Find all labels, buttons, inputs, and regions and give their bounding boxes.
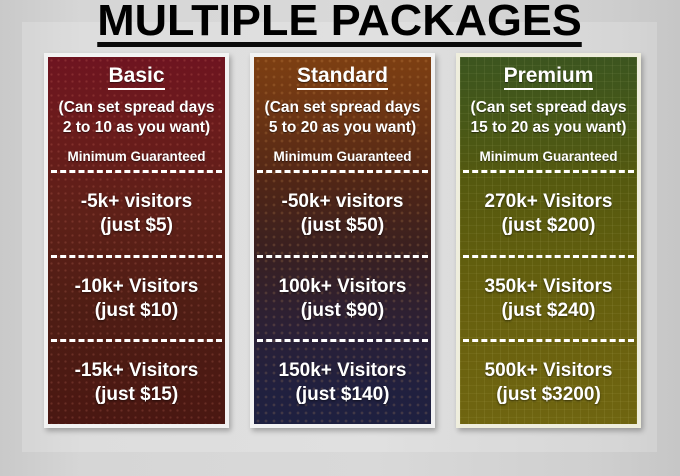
spread-days-line-1: (Can set spread days (256, 98, 429, 118)
tier-price: (just $90) (301, 299, 384, 323)
tier-price: (just $10) (95, 299, 178, 323)
tier-item[interactable]: -15k+ Visitors (just $15) (48, 342, 225, 424)
tier-price: (just $140) (296, 383, 390, 407)
spread-days-line-2: 2 to 10 as you want) (50, 118, 223, 138)
tier-price: (just $240) (502, 299, 596, 323)
tier-price: (just $3200) (496, 383, 601, 407)
card-body-basic: Basic (Can set spread days 2 to 10 as yo… (48, 57, 225, 424)
packages-row: Basic (Can set spread days 2 to 10 as yo… (0, 53, 680, 429)
tier-visitors: -5k+ visitors (81, 190, 192, 214)
package-card-basic[interactable]: Basic (Can set spread days 2 to 10 as yo… (44, 53, 229, 428)
tier-list-standard: -50k+ visitors (just $50) 100k+ Visitors… (254, 173, 431, 424)
tier-visitors: -50k+ visitors (282, 190, 404, 214)
package-name-premium: Premium (504, 63, 594, 90)
poster-stage: MULTIPLE PACKAGES Basic (Can set spread … (0, 0, 680, 476)
spread-days-standard: (Can set spread days 5 to 20 as you want… (254, 98, 431, 138)
tier-item[interactable]: 350k+ Visitors (just $240) (460, 258, 637, 340)
card-body-standard: Standard (Can set spread days 5 to 20 as… (254, 57, 431, 424)
package-name-standard: Standard (297, 63, 388, 90)
tier-visitors: 500k+ Visitors (485, 359, 613, 383)
package-card-standard[interactable]: Standard (Can set spread days 5 to 20 as… (250, 53, 435, 428)
tier-visitors: 350k+ Visitors (485, 275, 613, 299)
card-header-premium: Premium (460, 57, 637, 90)
tier-item[interactable]: 270k+ Visitors (just $200) (460, 173, 637, 255)
card-body-premium: Premium (Can set spread days 15 to 20 as… (460, 57, 637, 424)
spread-days-premium: (Can set spread days 15 to 20 as you wan… (460, 98, 637, 138)
tier-item[interactable]: 150k+ Visitors (just $140) (254, 342, 431, 424)
page-title: MULTIPLE PACKAGES (98, 0, 583, 47)
tier-list-basic: -5k+ visitors (just $5) -10k+ Visitors (… (48, 173, 225, 424)
spread-days-basic: (Can set spread days 2 to 10 as you want… (48, 98, 225, 138)
tier-item[interactable]: -50k+ visitors (just $50) (254, 173, 431, 255)
guarantee-label-standard: Minimum Guaranteed (254, 149, 431, 165)
tier-price: (just $50) (301, 214, 384, 238)
tier-visitors: 270k+ Visitors (485, 190, 613, 214)
spread-days-line-2: 15 to 20 as you want) (462, 118, 635, 138)
tier-item[interactable]: 100k+ Visitors (just $90) (254, 258, 431, 340)
tier-price: (just $200) (502, 214, 596, 238)
guarantee-label-basic: Minimum Guaranteed (48, 149, 225, 165)
package-card-premium[interactable]: Premium (Can set spread days 15 to 20 as… (456, 53, 641, 428)
page-title-container: MULTIPLE PACKAGES (0, 0, 680, 48)
tier-list-premium: 270k+ Visitors (just $200) 350k+ Visitor… (460, 173, 637, 424)
tier-item[interactable]: -10k+ Visitors (just $10) (48, 258, 225, 340)
tier-item[interactable]: 500k+ Visitors (just $3200) (460, 342, 637, 424)
tier-visitors: -15k+ Visitors (75, 359, 199, 383)
card-header-standard: Standard (254, 57, 431, 90)
tier-visitors: 150k+ Visitors (279, 359, 407, 383)
spread-days-line-1: (Can set spread days (50, 98, 223, 118)
tier-price: (just $15) (95, 383, 178, 407)
tier-price: (just $5) (100, 214, 173, 238)
guarantee-label-premium: Minimum Guaranteed (460, 149, 637, 165)
tier-item[interactable]: -5k+ visitors (just $5) (48, 173, 225, 255)
tier-visitors: -10k+ Visitors (75, 275, 199, 299)
spread-days-line-1: (Can set spread days (462, 98, 635, 118)
card-header-basic: Basic (48, 57, 225, 90)
tier-visitors: 100k+ Visitors (279, 275, 407, 299)
package-name-basic: Basic (108, 63, 164, 90)
spread-days-line-2: 5 to 20 as you want) (256, 118, 429, 138)
